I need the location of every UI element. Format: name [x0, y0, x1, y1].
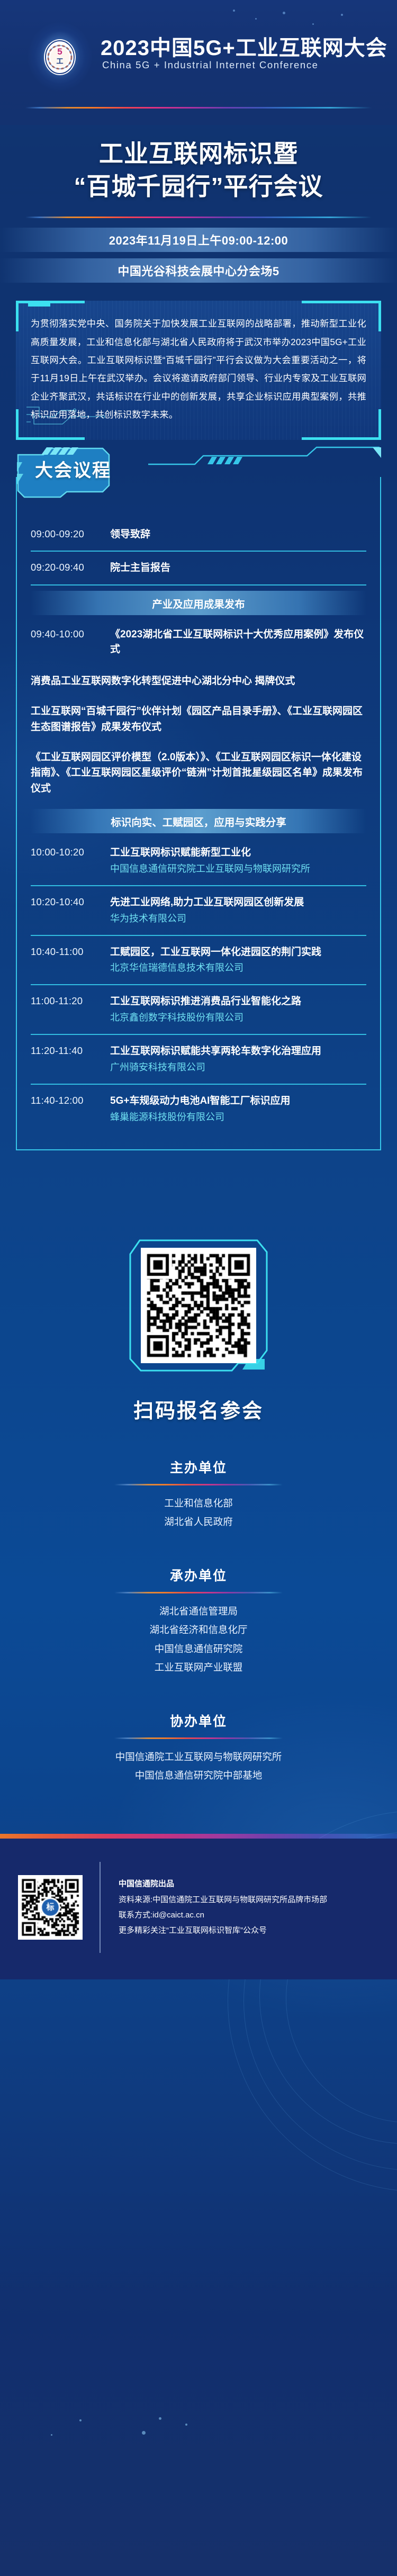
signup-section: 扫码报名参会: [0, 1236, 397, 1424]
agenda-banner-label: 大会议程: [35, 456, 111, 482]
header-title-cn: 2023中国5G+工业互联网大会: [101, 31, 387, 61]
agenda-section-header: 标识向实、工赋园区，应用与实践分享: [31, 809, 366, 833]
hero-rainbow-divider: [25, 217, 372, 218]
footer-rainbow-divider: [0, 1834, 397, 1839]
hero-line-2: “百城千园行”平行会议: [74, 173, 323, 200]
agenda-section: 大会议程 09:00-09:20领导致辞09:20-09:40院士主旨报告产业及…: [16, 477, 381, 1173]
agenda-row-time: 09:20-09:40: [31, 561, 101, 573]
agenda-row: 09:40-10:00《2023湖北省工业互联网标识十大优秀应用案例》发布仪式: [31, 618, 366, 665]
conference-emblem: 5 工: [31, 25, 89, 88]
agenda-row-organization: 华为技术有限公司: [110, 912, 366, 926]
organizer-block: 主办单位工业和信息化部湖北省人民政府: [0, 1457, 397, 1532]
organizer-name: 湖北省通信管理局: [0, 1602, 397, 1621]
agenda-section-header: 产业及应用成果发布: [31, 591, 366, 615]
agenda-block-title: 《工业互联网园区评价模型（2.0版本）》、《工业互联网园区标识一体化建设指南》、…: [31, 750, 366, 796]
agenda-divider: [31, 551, 366, 552]
agenda-row-organization: 中国信息通信研究院工业互联网与物联网研究所: [110, 862, 366, 876]
header-rainbow-divider: [25, 107, 372, 109]
agenda-row-title: 工业互联网标识赋能新型工业化: [110, 845, 366, 860]
agenda-row-body: 工业互联网标识推进消费品行业智能化之路北京鑫创数字科技股份有限公司: [110, 994, 366, 1025]
header-title-en: China 5G + Industrial Internet Conferenc…: [102, 59, 319, 71]
agenda-divider: [31, 1084, 366, 1085]
agenda-row-time: 10:20-10:40: [31, 895, 101, 908]
agenda-row-time: 11:00-11:20: [31, 994, 101, 1007]
svg-text:工: 工: [56, 57, 63, 65]
intro-panel: 为贯彻落实党中央、国务院关于加快发展工业互联网的战略部署，推动新型工业化高质量发…: [16, 301, 381, 439]
agenda-block: 消费品工业互联网数字化转型促进中心湖北分中心 揭牌仪式: [31, 666, 366, 696]
agenda-row: 09:00-09:20领导致辞: [31, 518, 366, 551]
event-venue-bar: 中国光谷科技会展中心分会场5: [0, 258, 397, 283]
agenda-row-body: 领导致辞: [110, 527, 366, 542]
agenda-row-body: 工业互联网标识赋能共享两轮车数字化治理应用广州骑安科技有限公司: [110, 1044, 366, 1075]
agenda-row-title: 院士主旨报告: [110, 561, 366, 575]
intro-paragraph: 为贯彻落实党中央、国务院关于加快发展工业互联网的战略部署，推动新型工业化高质量发…: [31, 314, 366, 424]
agenda-row: 09:20-09:40院士主旨报告: [31, 552, 366, 584]
agenda-row-body: 工业互联网标识赋能新型工业化中国信息通信研究院工业互联网与物联网研究所: [110, 845, 366, 876]
agenda-row-time: 11:40-12:00: [31, 1094, 101, 1106]
signup-label: 扫码报名参会: [0, 1394, 397, 1424]
agenda-row-time: 10:00-10:20: [31, 845, 101, 858]
agenda-row-body: 工赋园区，工业互联网一体化进园区的荆门实践北京华信瑞德信息技术有限公司: [110, 945, 366, 976]
agenda-divider: [31, 584, 366, 586]
agenda-row-body: 5G+车规级动力电池AI智能工厂标识应用蜂巢能源科技股份有限公司: [110, 1094, 366, 1124]
footer-line-3: 联系方式:id@caict.ac.cn: [119, 1907, 327, 1923]
agenda-list: 09:00-09:20领导致辞09:20-09:40院士主旨报告产业及应用成果发…: [31, 518, 366, 1133]
wechat-official-account-qr[interactable]: [18, 1875, 83, 1940]
organizer-name: 中国信息通信研究院中部基地: [0, 1766, 397, 1785]
agenda-row-title: 工业互联网标识赋能共享两轮车数字化治理应用: [110, 1044, 366, 1059]
organizer-name: 中国信通院工业互联网与物联网研究所: [0, 1748, 397, 1767]
footer-divider: [100, 1862, 101, 1953]
agenda-block: 工业互联网“百城千园行”伙伴计划《园区产品目录手册》、《工业互联网园区生态图谱报…: [31, 696, 366, 742]
agenda-row: 11:20-11:40工业互联网标识赋能共享两轮车数字化治理应用广州骑安科技有限…: [31, 1035, 366, 1084]
agenda-row: 11:40-12:005G+车规级动力电池AI智能工厂标识应用蜂巢能源科技股份有…: [31, 1085, 366, 1133]
poster-header: 5 工 2023中国5G+工业互联网大会 China 5G + Industri…: [0, 0, 397, 125]
agenda-block: 《工业互联网园区评价模型（2.0版本）》、《工业互联网园区标识一体化建设指南》、…: [31, 742, 366, 804]
agenda-divider: [31, 1034, 366, 1035]
hero-line-1: 工业互联网标识暨: [99, 140, 298, 167]
organizer-heading: 主办单位: [0, 1457, 397, 1476]
organizer-rainbow-rule: [114, 1592, 283, 1593]
organizer-rainbow-rule: [114, 1484, 283, 1485]
conference-poster: 5 工 2023中国5G+工业互联网大会 China 5G + Industri…: [0, 0, 397, 2576]
agenda-row-time: 09:40-10:00: [31, 627, 101, 640]
agenda-row-organization: 北京鑫创数字科技股份有限公司: [110, 1011, 366, 1025]
agenda-banner-topline: [148, 446, 381, 477]
footer-line-1: 中国信通院出品: [119, 1876, 327, 1892]
agenda-row-time: 09:00-09:20: [31, 527, 101, 540]
agenda-block-title: 工业互联网“百城千园行”伙伴计划《园区产品目录手册》、《工业互联网园区生态图谱报…: [31, 704, 366, 735]
agenda-row-title: 工赋园区，工业互联网一体化进园区的荆门实践: [110, 945, 366, 960]
agenda-row-organization: 广州骑安科技有限公司: [110, 1060, 366, 1075]
organizer-name: 湖北省经济和信息化厅: [0, 1620, 397, 1640]
agenda-row: 10:00-10:20工业互联网标识赋能新型工业化中国信息通信研究院工业互联网与…: [31, 836, 366, 885]
hero-title-block: 工业互联网标识暨 “百城千园行”平行会议: [0, 125, 397, 218]
organizer-sections: 主办单位工业和信息化部湖北省人民政府承办单位湖北省通信管理局湖北省经济和信息化厅…: [0, 1457, 397, 1785]
organizer-heading: 协办单位: [0, 1711, 397, 1730]
event-datetime-bar: 2023年11月19日上午09:00-12:00: [0, 228, 397, 252]
organizer-name: 湖北省人民政府: [0, 1512, 397, 1532]
footer-info: 中国信通院出品 资料来源:中国信通院工业互联网与物联网研究所品牌市场部 联系方式…: [119, 1876, 327, 1938]
agenda-divider: [31, 984, 366, 985]
agenda-block-title: 消费品工业互联网数字化转型促进中心湖北分中心 揭牌仪式: [31, 673, 366, 689]
agenda-row-title: 领导致辞: [110, 527, 366, 542]
agenda-row: 10:20-10:40先进工业网络,助力工业互联网园区创新发展华为技术有限公司: [31, 886, 366, 935]
agenda-row-body: 《2023湖北省工业互联网标识十大优秀应用案例》发布仪式: [110, 627, 366, 656]
agenda-row-title: 先进工业网络,助力工业互联网园区创新发展: [110, 895, 366, 910]
emblem-icon: 5 工: [42, 37, 78, 77]
agenda-divider: [31, 885, 366, 886]
agenda-row-time: 10:40-11:00: [31, 945, 101, 958]
agenda-banner: 大会议程: [16, 446, 148, 499]
organizer-name: 工业和信息化部: [0, 1494, 397, 1513]
organizer-rainbow-rule: [114, 1737, 283, 1739]
agenda-row-title: 《2023湖北省工业互联网标识十大优秀应用案例》发布仪式: [110, 627, 366, 656]
organizer-block: 承办单位湖北省通信管理局湖北省经济和信息化厅中国信息通信研究院工业互联网产业联盟: [0, 1565, 397, 1677]
agenda-row: 11:00-11:20工业互联网标识推进消费品行业智能化之路北京鑫创数字科技股份…: [31, 985, 366, 1034]
dot-decoration: [0, 2414, 397, 2451]
svg-text:5: 5: [57, 47, 62, 57]
agenda-row-time: 11:20-11:40: [31, 1044, 101, 1057]
agenda-row-title: 5G+车规级动力电池AI智能工厂标识应用: [110, 1094, 366, 1109]
organizer-name: 工业互联网产业联盟: [0, 1658, 397, 1677]
agenda-row-organization: 蜂巢能源科技股份有限公司: [110, 1110, 366, 1124]
poster-footer: 中国信通院出品 资料来源:中国信通院工业互联网与物联网研究所品牌市场部 联系方式…: [0, 1839, 397, 1979]
footer-line-2: 资料来源:中国信通院工业互联网与物联网研究所品牌市场部: [119, 1892, 327, 1907]
organizer-heading: 承办单位: [0, 1565, 397, 1584]
agenda-row-body: 先进工业网络,助力工业互联网园区创新发展华为技术有限公司: [110, 895, 366, 926]
footer-line-4: 更多精彩关注“工业互联网标识智库”公众号: [119, 1923, 327, 1938]
agenda-row-body: 院士主旨报告: [110, 561, 366, 575]
registration-qr-code[interactable]: [141, 1248, 256, 1363]
agenda-divider: [31, 935, 366, 936]
agenda-row-organization: 北京华信瑞德信息技术有限公司: [110, 961, 366, 975]
organizer-block: 协办单位中国信通院工业互联网与物联网研究所中国信息通信研究院中部基地: [0, 1711, 397, 1785]
organizer-name: 中国信息通信研究院: [0, 1640, 397, 1659]
agenda-box: 大会议程 09:00-09:20领导致辞09:20-09:40院士主旨报告产业及…: [16, 477, 381, 1150]
registration-qr-frame[interactable]: [128, 1236, 269, 1375]
agenda-row-title: 工业互联网标识推进消费品行业智能化之路: [110, 994, 366, 1009]
agenda-row: 10:40-11:00工赋园区，工业互联网一体化进园区的荆门实践北京华信瑞德信息…: [31, 936, 366, 985]
